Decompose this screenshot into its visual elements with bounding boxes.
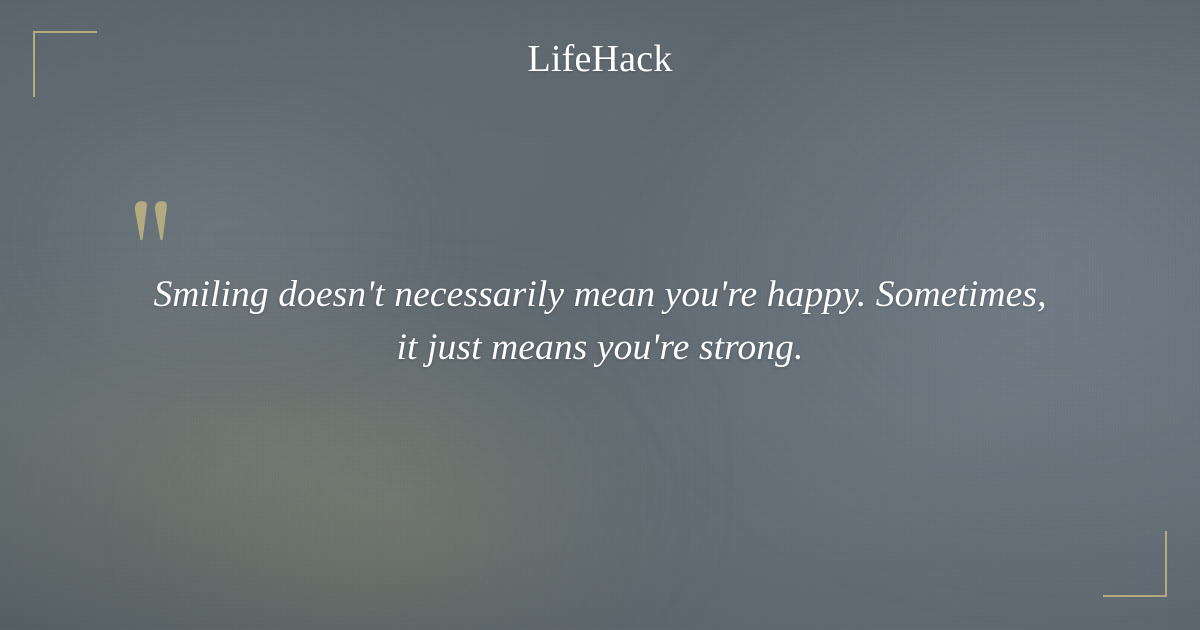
quote-block: Smiling doesn't necessarily mean you're … [90,268,1110,375]
brand-logo: LifeHack [0,40,1200,78]
quote-card: LifeHack Smiling doesn't necessarily mea… [0,0,1200,630]
corner-bracket-bottom-right-icon [1103,531,1167,597]
quote-mark-icon [133,199,179,243]
quote-line-2: it just means you're strong. [90,321,1110,374]
quote-line-1: Smiling doesn't necessarily mean you're … [90,268,1110,321]
